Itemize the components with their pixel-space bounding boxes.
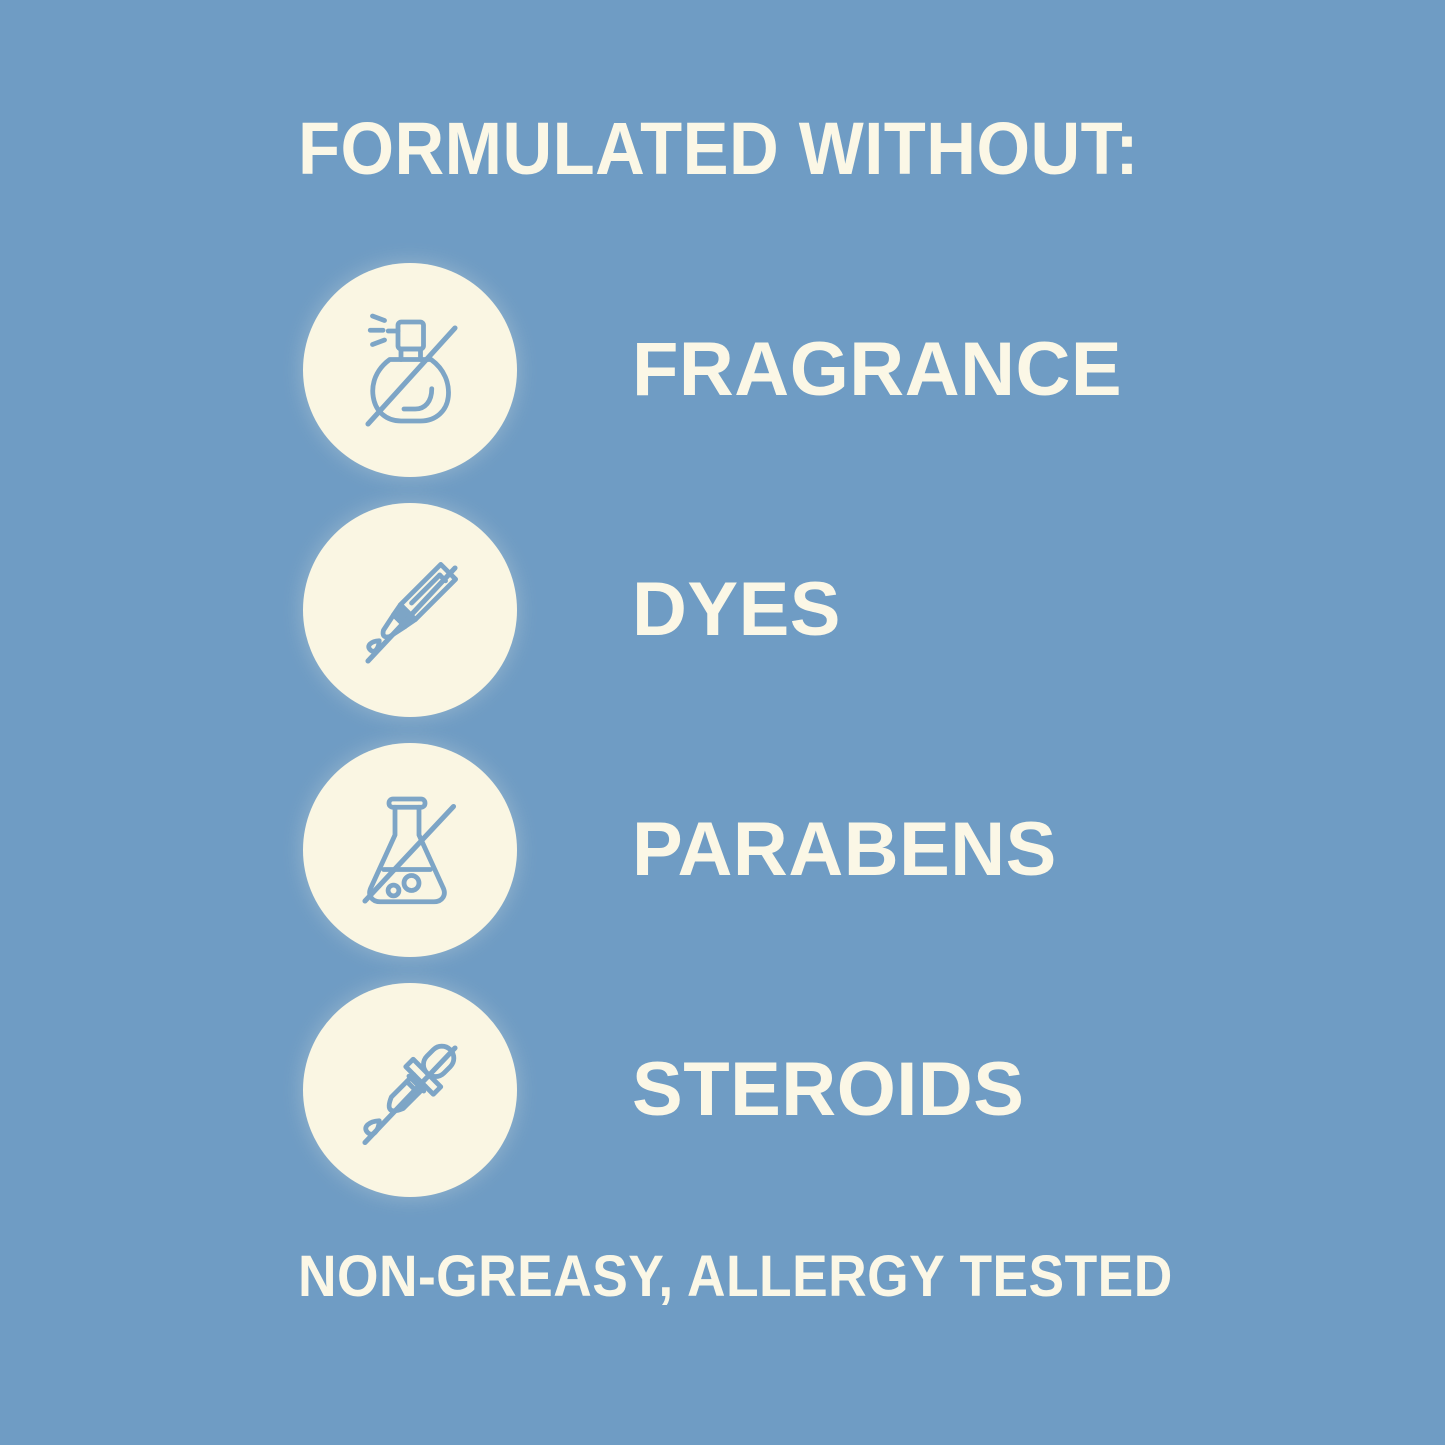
no-dye-applicator-icon xyxy=(335,535,485,685)
list-item: FRAGRANCE xyxy=(0,250,1445,490)
footer-note: NON-GREASY, ALLERGY TESTED xyxy=(298,1248,1218,1306)
no-fragrance-bottle-icon xyxy=(335,295,485,445)
claim-icon-badge xyxy=(303,983,517,1197)
claim-list: FRAGRANCE xyxy=(0,250,1445,1210)
list-item-label: FRAGRANCE xyxy=(632,332,1122,408)
claim-icon-badge xyxy=(303,503,517,717)
list-item-label: STEROIDS xyxy=(632,1052,1025,1128)
no-flask-icon xyxy=(335,775,485,925)
formulated-without-panel: FORMULATED WITHOUT: xyxy=(0,0,1445,1445)
list-item: PARABENS xyxy=(0,730,1445,970)
list-item-label: DYES xyxy=(632,572,841,648)
page-title: FORMULATED WITHOUT: xyxy=(298,112,1228,186)
list-item-label: PARABENS xyxy=(632,812,1057,888)
claim-icon-badge xyxy=(303,743,517,957)
list-item: DYES xyxy=(0,490,1445,730)
no-dropper-icon xyxy=(335,1015,485,1165)
list-item: STEROIDS xyxy=(0,970,1445,1210)
claim-icon-badge xyxy=(303,263,517,477)
